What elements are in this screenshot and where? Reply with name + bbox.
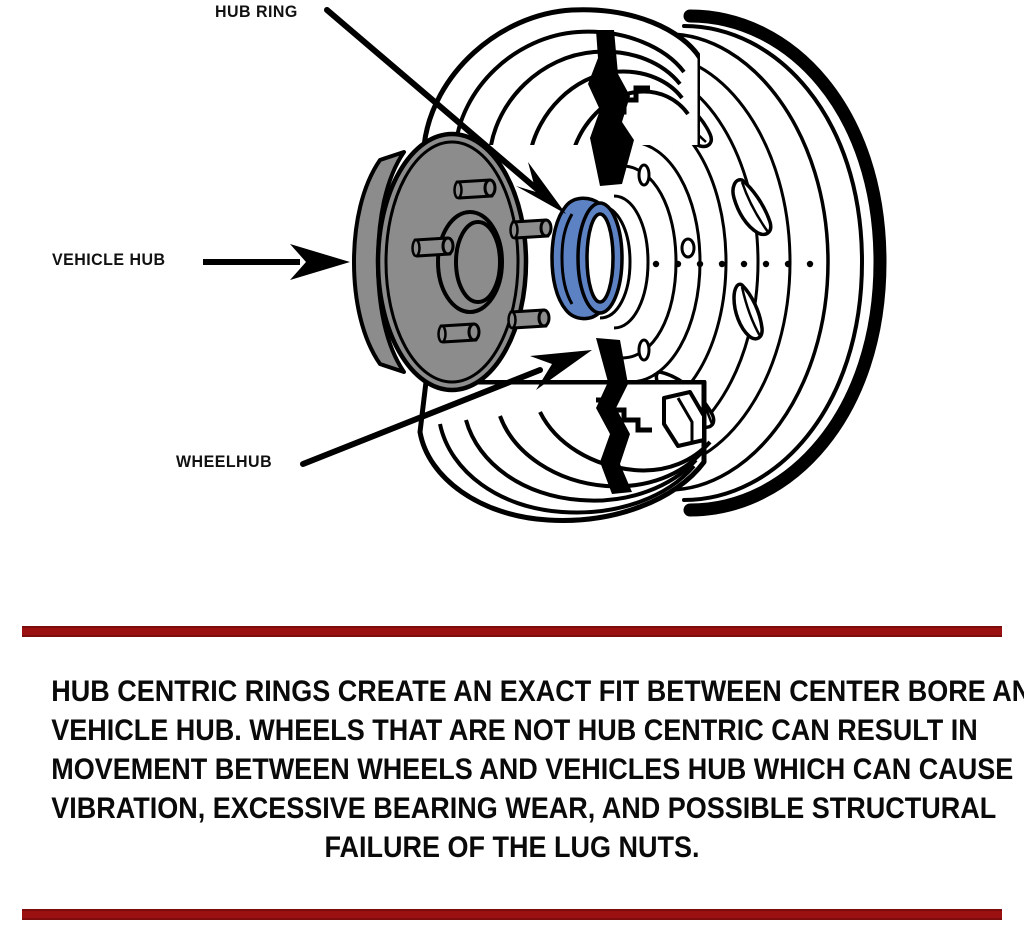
- caption-block: HUB CENTRIC RINGS CREATE AN EXACT FIT BE…: [0, 672, 1024, 867]
- wheel-lug-hole-top: [639, 165, 649, 185]
- callout-label-vehicle-hub: VEHICLE HUB: [52, 250, 165, 270]
- divider-rule-bottom: [22, 907, 1002, 918]
- divider-rule-top-shape: [22, 626, 1002, 637]
- hub-ring-bore: [587, 214, 613, 302]
- caption-line: MOVEMENT BETWEEN WHEELS AND VEHICLES HUB…: [51, 750, 973, 789]
- lug-stud-upper-right: [511, 220, 552, 238]
- caption-line: HUB CENTRIC RINGS CREATE AN EXACT FIT BE…: [51, 672, 973, 711]
- axis-centerline: [653, 261, 813, 267]
- arrowhead-hub-ring: [516, 162, 566, 214]
- diagram-canvas: [0, 0, 1024, 600]
- vehicle-hub-center-bore: [456, 222, 500, 302]
- lug-stud-top: [455, 180, 496, 198]
- caption-line: VIBRATION, EXCESSIVE BEARING WEAR, AND P…: [51, 789, 973, 828]
- callout-label-hub-ring: HUB RING: [215, 2, 298, 22]
- divider-rule-bottom-shape: [22, 909, 1002, 920]
- lug-stud-bottom: [439, 324, 480, 342]
- caption-line: VEHICLE HUB. WHEELS THAT ARE NOT HUB CEN…: [51, 711, 973, 750]
- callout-label-wheelhub: WHEELHUB: [176, 452, 272, 472]
- wheel-lug-hole-mid: [682, 239, 694, 257]
- lug-stud-left: [413, 238, 454, 256]
- hub-ring-part: [552, 198, 622, 318]
- hub-ring-diagram: HUB RING VEHICLE HUB WHEELHUB: [0, 0, 1024, 600]
- lug-stud-lower-right: [509, 310, 550, 328]
- page-root: HUB RING VEHICLE HUB WHEELHUB HUB CENTRI…: [0, 0, 1024, 928]
- divider-rule-top: [22, 624, 1002, 635]
- wheel-lug-hole-bottom: [639, 340, 649, 360]
- caption-line: FAILURE OF THE LUG NUTS.: [51, 828, 973, 867]
